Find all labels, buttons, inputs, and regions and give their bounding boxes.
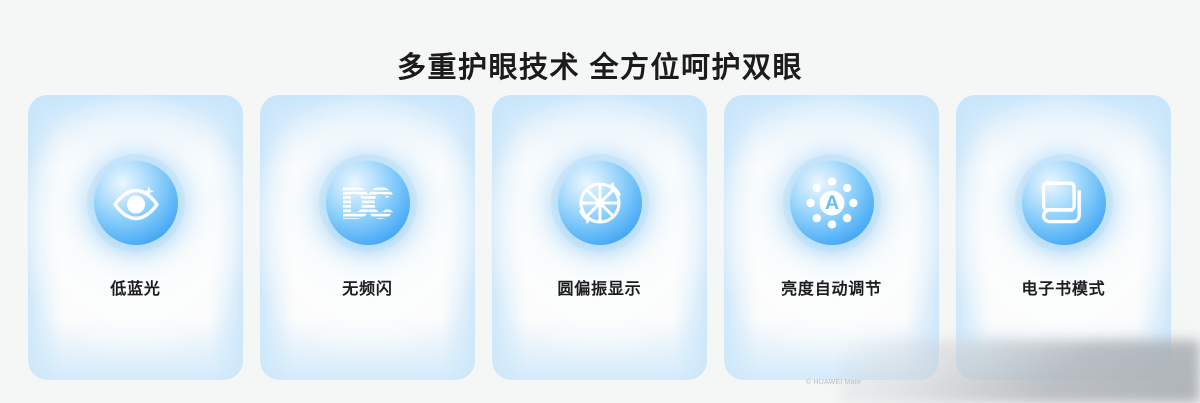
feature-label: 低蓝光 (28, 275, 243, 299)
circular-polarizer-icon (573, 176, 627, 230)
icon-container (492, 155, 707, 251)
eye-sparkle-icon (110, 177, 162, 229)
watermark-text: © HUAWEI Mate (806, 379, 861, 386)
icon-container (260, 155, 475, 251)
feature-card-low-blue-light[interactable]: 低蓝光 (28, 95, 243, 380)
feature-card-auto-brightness[interactable]: A (724, 95, 939, 380)
feature-label: 无频闪 (260, 275, 475, 299)
feature-card-row: 低蓝光 (28, 95, 1174, 380)
auto-brightness-icon: A (804, 175, 860, 231)
icon-container: A (724, 155, 939, 251)
svg-text:A: A (824, 192, 838, 214)
icon-orb (326, 161, 410, 245)
icon-orb: A (790, 161, 874, 245)
icon-container (28, 155, 243, 251)
icon-container (956, 155, 1171, 251)
slide-root: 多重护眼技术 全方位呵护双眼 低蓝光 (0, 0, 1200, 403)
feature-label: 亮度自动调节 (724, 275, 939, 299)
icon-orb (1022, 161, 1106, 245)
icon-orb (94, 161, 178, 245)
icon-orb (558, 161, 642, 245)
ebook-mode-icon (1039, 179, 1089, 227)
feature-card-circular-polarization[interactable]: 圆偏振显示 (492, 95, 707, 380)
feature-card-ebook-mode[interactable]: 电子书模式 (956, 95, 1171, 380)
page-title: 多重护眼技术 全方位呵护双眼 (0, 44, 1200, 86)
feature-label: 电子书模式 (956, 275, 1171, 299)
feature-card-flicker-free[interactable]: 无频闪 (260, 95, 475, 380)
dc-dimming-icon (340, 183, 396, 223)
feature-label: 圆偏振显示 (492, 275, 707, 299)
